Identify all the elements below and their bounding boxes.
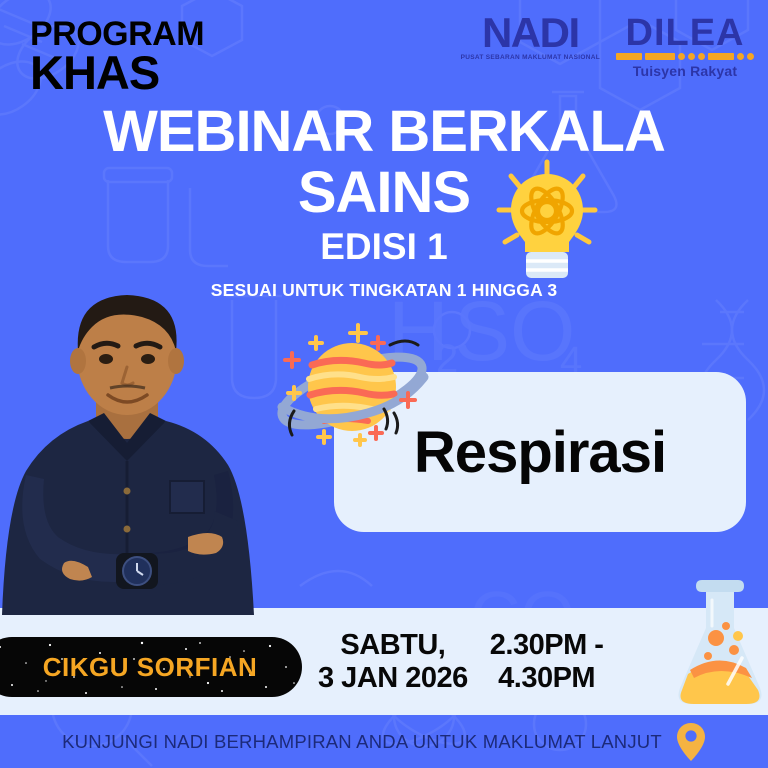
schedule-time-column: 2.30PM - 4.30PM [490, 629, 604, 695]
location-pin-icon [676, 722, 706, 762]
saturn-planet-icon [272, 315, 462, 465]
lightbulb-atom-icon [493, 158, 601, 280]
dilea-logo-tagline: Tuisyen Rakyat [633, 63, 737, 79]
nadi-logo-wordmark: NADI [482, 14, 579, 52]
title-audience: SESUAI UNTUK TINGKATAN 1 HINGGA 3 [0, 280, 768, 301]
title-line-1: WEBINAR BERKALA [0, 103, 768, 161]
footer-bar: KUNJUNGI NADI BERHAMPIRAN ANDA UNTUK MAK… [0, 715, 768, 768]
title-edition: EDISI 1 [0, 226, 768, 268]
footer-call-to-action: KUNJUNGI NADI BERHAMPIRAN ANDA UNTUK MAK… [62, 731, 662, 753]
speaker-name: CIKGU SORFIAN [27, 652, 258, 683]
program-emphasis: KHAS [30, 51, 204, 96]
schedule-time-start: 2.30PM - [490, 629, 604, 662]
presenter-photo [0, 285, 262, 615]
nadi-logo-tagline: PUSAT SEBARAN MAKLUMAT NASIONAL [461, 54, 600, 61]
logo-group: NADI PUSAT SEBARAN MAKLUMAT NASIONAL DIL… [461, 14, 754, 79]
dilea-logo-wordmark: DILEA [626, 16, 745, 50]
main-title-block: WEBINAR BERKALA SAINS EDISI 1 SESUAI UNT… [0, 103, 768, 301]
program-heading: PROGRAM KHAS [30, 18, 204, 96]
dilea-logo-dashes [616, 53, 754, 60]
speaker-name-pill: CIKGU SORFIAN [0, 637, 302, 697]
webinar-poster: H 2 SO 4 CO PROGRAM KHAS NADI PUSAT SEBA… [0, 0, 768, 768]
dilea-logo: DILEA Tuisyen Rakyat [616, 14, 754, 79]
schedule-date: 3 JAN 2026 [318, 662, 468, 695]
schedule-time-end: 4.30PM [490, 662, 604, 695]
schedule-date-column: SABTU, 3 JAN 2026 [318, 629, 468, 695]
schedule-block: SABTU, 3 JAN 2026 2.30PM - 4.30PM [318, 618, 698, 706]
schedule-day: SABTU, [318, 629, 468, 662]
nadi-logo: NADI PUSAT SEBARAN MAKLUMAT NASIONAL [461, 14, 600, 61]
title-line-2: SAINS [0, 163, 768, 222]
erlenmeyer-flask-icon [672, 578, 768, 718]
